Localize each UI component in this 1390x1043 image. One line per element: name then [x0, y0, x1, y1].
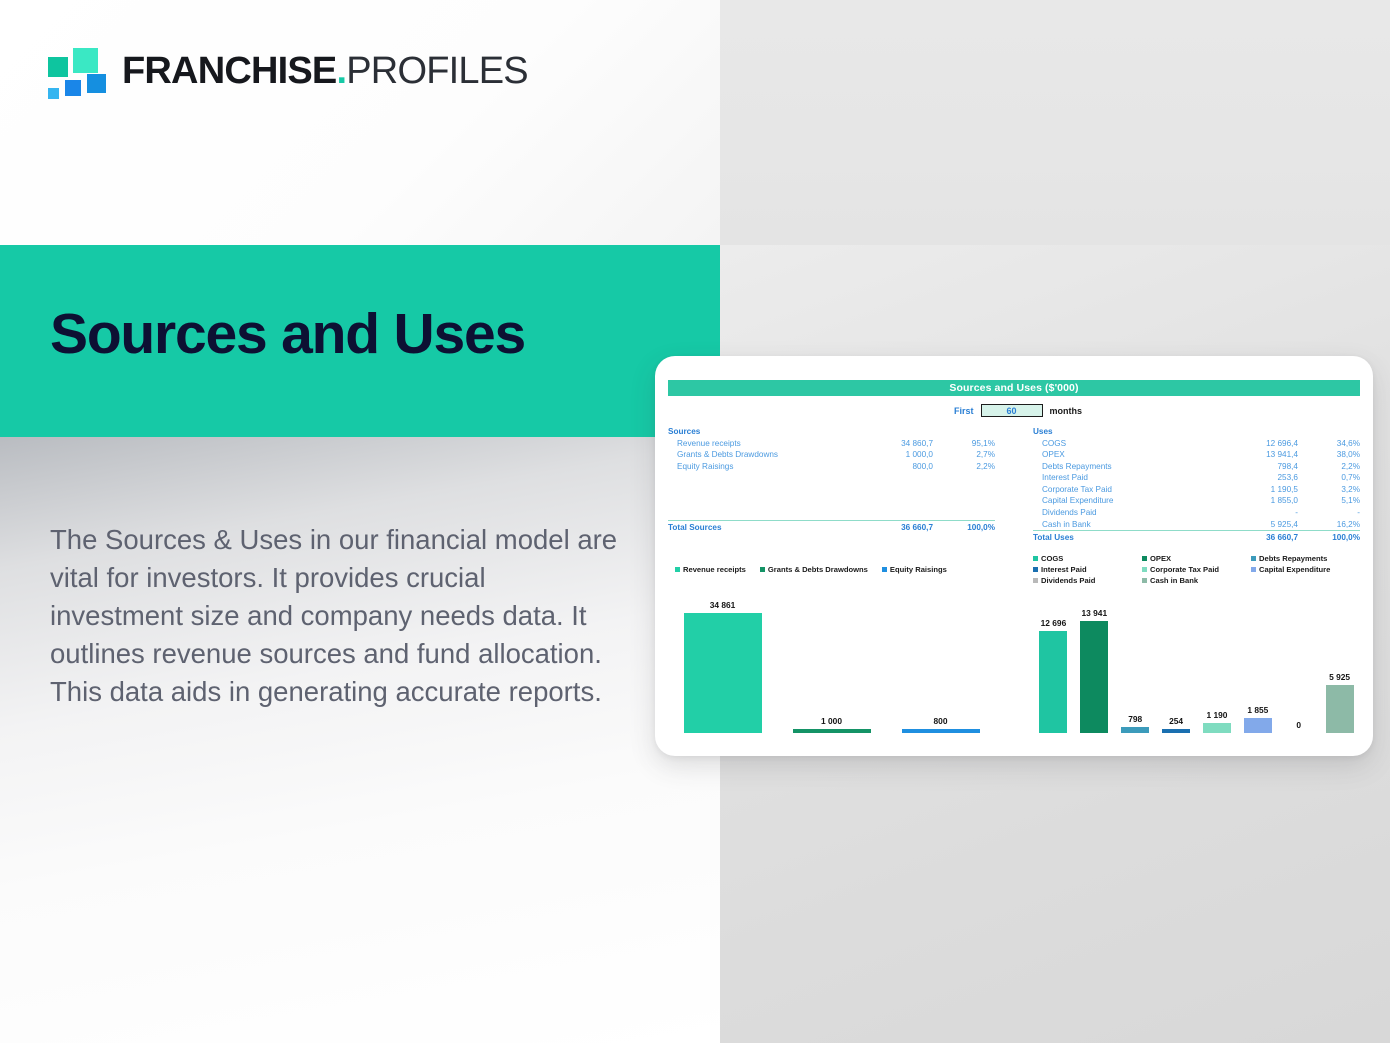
row-amount: 253,6: [1216, 472, 1298, 484]
sources-total-row: Total Sources 36 660,7 100,0%: [668, 520, 995, 534]
uses-bar-chart: 12 69613 9417982541 1901 85505 925: [1033, 591, 1360, 751]
uses-chart-legend: COGSOPEXDebts RepaymentsInterest PaidCor…: [1033, 554, 1360, 585]
brand-name-bold: FRANCHISE: [122, 50, 336, 92]
brand-logo: FRANCHISE.PROFILES: [48, 42, 528, 100]
logo-square-blue-mid: [65, 80, 81, 96]
row-amount: 1 855,0: [1216, 495, 1298, 507]
row-amount: 13 941,4: [1216, 449, 1298, 461]
bar: [1326, 685, 1354, 733]
table-row: OPEX 13 941,4 38,0%: [1033, 449, 1360, 461]
bar-group: 798: [1115, 714, 1156, 733]
row-label: Debts Repayments: [1033, 461, 1216, 473]
bar-value-label: 12 696: [1041, 618, 1067, 628]
logo-square-blue-small: [48, 88, 59, 99]
bar-group: 800: [886, 716, 995, 733]
bar-value-label: 254: [1169, 716, 1183, 726]
row-percent: 3,2%: [1298, 484, 1360, 496]
bar-group: 34 861: [668, 600, 777, 733]
bar: [684, 613, 762, 733]
legend-label: Revenue receipts: [683, 565, 746, 574]
chart-legends: Revenue receiptsGrants & Debts Drawdowns…: [668, 554, 1360, 585]
row-label: Grants & Debts Drawdowns: [668, 449, 851, 461]
bar-group: 1 855: [1237, 705, 1278, 733]
row-label: Revenue receipts: [668, 438, 851, 450]
sheet-title-banner: Sources and Uses ($'000): [668, 380, 1360, 396]
row-label: Corporate Tax Paid: [1033, 484, 1216, 496]
legend-item: Capital Expenditure: [1251, 565, 1360, 574]
logo-square-mint: [73, 48, 98, 73]
row-amount: 1 000,0: [851, 449, 933, 461]
bar-value-label: 34 861: [710, 600, 736, 610]
table-row: Revenue receipts 34 860,7 95,1%: [668, 438, 995, 450]
legend-swatch-icon: [1033, 556, 1038, 561]
background-panel-top-left: [0, 0, 720, 245]
total-percent: 100,0%: [1298, 532, 1360, 544]
legend-label: Corporate Tax Paid: [1150, 565, 1219, 574]
table-row: COGS 12 696,4 34,6%: [1033, 438, 1360, 450]
bar: [1121, 727, 1149, 733]
total-label: Total Sources: [668, 522, 851, 534]
logo-square-teal-dark: [48, 57, 68, 77]
row-label: Interest Paid: [1033, 472, 1216, 484]
bar-value-label: 5 925: [1329, 672, 1350, 682]
page-title: Sources and Uses: [50, 305, 690, 365]
bar-value-label: 1 855: [1247, 705, 1268, 715]
spreadsheet-card: Sources and Uses ($'000) First 60 months…: [655, 356, 1373, 756]
bar: [1162, 729, 1190, 733]
row-percent: 95,1%: [933, 438, 995, 450]
legend-swatch-icon: [1142, 567, 1147, 572]
row-percent: 16,2%: [1298, 519, 1360, 531]
legend-label: Grants & Debts Drawdowns: [768, 565, 868, 574]
total-label: Total Uses: [1033, 532, 1216, 544]
row-amount: 5 925,4: [1216, 519, 1298, 531]
logo-square-blue-large: [87, 74, 106, 93]
bar-group: 13 941: [1074, 608, 1115, 733]
total-amount: 36 660,7: [1216, 532, 1298, 544]
bar: [1203, 723, 1231, 733]
row-percent: 2,2%: [1298, 461, 1360, 473]
table-row: Grants & Debts Drawdowns 1 000,0 2,7%: [668, 449, 995, 461]
row-percent: 2,7%: [933, 449, 995, 461]
legend-item: Dividends Paid: [1033, 576, 1142, 585]
bar-charts: 34 8611 000800 12 69613 9417982541 1901 …: [668, 591, 1360, 751]
legend-item: Revenue receipts: [675, 554, 746, 585]
row-amount: 34 860,7: [851, 438, 933, 450]
row-label: OPEX: [1033, 449, 1216, 461]
brand-name-light: PROFILES: [346, 50, 528, 92]
bar-group: 0: [1278, 720, 1319, 733]
bar: [793, 729, 871, 733]
period-months-input[interactable]: 60: [981, 404, 1043, 417]
legend-swatch-icon: [1251, 556, 1256, 561]
legend-item: Corporate Tax Paid: [1142, 565, 1251, 574]
sources-table-header: Sources: [668, 427, 995, 436]
row-percent: -: [1298, 507, 1360, 519]
row-amount: 798,4: [1216, 461, 1298, 473]
period-suffix-label: months: [1050, 406, 1083, 416]
sources-bar-chart: 34 8611 000800: [668, 591, 995, 751]
row-label: Capital Expenditure: [1033, 495, 1216, 507]
legend-item: Cash in Bank: [1142, 576, 1251, 585]
legend-item: OPEX: [1142, 554, 1251, 563]
legend-item: Equity Raisings: [882, 554, 947, 585]
period-selector-row: First 60 months: [668, 403, 1360, 418]
row-label: Cash in Bank: [1033, 519, 1216, 531]
legend-label: Equity Raisings: [890, 565, 947, 574]
row-amount: 800,0: [851, 461, 933, 473]
table-row: Debts Repayments 798,4 2,2%: [1033, 461, 1360, 473]
row-percent: 34,6%: [1298, 438, 1360, 450]
period-prefix-label: First: [954, 406, 974, 416]
legend-item: Debts Repayments: [1251, 554, 1360, 563]
legend-item: COGS: [1033, 554, 1142, 563]
bar-value-label: 800: [934, 716, 948, 726]
legend-swatch-icon: [1033, 567, 1038, 572]
legend-label: Cash in Bank: [1150, 576, 1198, 585]
background-panel-top-right: [720, 0, 1390, 245]
legend-item: Grants & Debts Drawdowns: [760, 554, 868, 585]
bar: [902, 729, 980, 733]
legend-label: COGS: [1041, 554, 1063, 563]
total-percent: 100,0%: [933, 522, 995, 534]
bar: [1080, 621, 1108, 733]
table-row: Corporate Tax Paid 1 190,5 3,2%: [1033, 484, 1360, 496]
legend-item: Interest Paid: [1033, 565, 1142, 574]
row-percent: 5,1%: [1298, 495, 1360, 507]
row-amount: -: [1216, 507, 1298, 519]
sources-and-uses-tables: Sources Revenue receipts 34 860,7 95,1% …: [668, 427, 1360, 544]
bar-group: 12 696: [1033, 618, 1074, 733]
total-amount: 36 660,7: [851, 522, 933, 534]
table-row: Equity Raisings 800,0 2,2%: [668, 461, 995, 473]
spreadsheet-content: Sources and Uses ($'000) First 60 months…: [668, 380, 1360, 751]
bar-value-label: 1 000: [821, 716, 842, 726]
bar-value-label: 0: [1296, 720, 1301, 730]
legend-label: OPEX: [1150, 554, 1171, 563]
legend-label: Dividends Paid: [1041, 576, 1095, 585]
legend-swatch-icon: [675, 567, 680, 572]
bar-group: 1 000: [777, 716, 886, 733]
page-description: The Sources & Uses in our financial mode…: [50, 521, 620, 711]
table-row: Dividends Paid - -: [1033, 507, 1360, 519]
bar-value-label: 13 941: [1082, 608, 1108, 618]
row-label: Dividends Paid: [1033, 507, 1216, 519]
bar-group: 1 190: [1197, 710, 1238, 733]
bar-group: 5 925: [1319, 672, 1360, 733]
bar-group: 254: [1156, 716, 1197, 733]
legend-swatch-icon: [1033, 578, 1038, 583]
sources-table: Sources Revenue receipts 34 860,7 95,1% …: [668, 427, 995, 544]
legend-label: Capital Expenditure: [1259, 565, 1330, 574]
legend-swatch-icon: [1251, 567, 1256, 572]
uses-total-row: Total Uses 36 660,7 100,0%: [1033, 530, 1360, 544]
row-percent: 0,7%: [1298, 472, 1360, 484]
legend-swatch-icon: [882, 567, 887, 572]
bar-value-label: 798: [1128, 714, 1142, 724]
legend-label: Interest Paid: [1041, 565, 1087, 574]
legend-swatch-icon: [1142, 578, 1147, 583]
legend-label: Debts Repayments: [1259, 554, 1327, 563]
legend-swatch-icon: [760, 567, 765, 572]
brand-wordmark: FRANCHISE.PROFILES: [122, 52, 528, 90]
uses-table: Uses COGS 12 696,4 34,6% OPEX 13 941,4 3…: [1033, 427, 1360, 544]
table-filler: [668, 472, 995, 520]
brand-name-dot: .: [336, 50, 346, 92]
bar-value-label: 1 190: [1206, 710, 1227, 720]
row-amount: 1 190,5: [1216, 484, 1298, 496]
bar: [1244, 718, 1272, 733]
row-percent: 2,2%: [933, 461, 995, 473]
bar: [1039, 631, 1067, 733]
row-percent: 38,0%: [1298, 449, 1360, 461]
table-row: Capital Expenditure 1 855,0 5,1%: [1033, 495, 1360, 507]
row-amount: 12 696,4: [1216, 438, 1298, 450]
row-label: Equity Raisings: [668, 461, 851, 473]
table-row: Cash in Bank 5 925,4 16,2%: [1033, 519, 1360, 531]
logo-squares-icon: [48, 46, 110, 96]
uses-table-header: Uses: [1033, 427, 1360, 436]
legend-swatch-icon: [1142, 556, 1147, 561]
sources-chart-legend: Revenue receiptsGrants & Debts Drawdowns…: [668, 554, 995, 585]
table-row: Interest Paid 253,6 0,7%: [1033, 472, 1360, 484]
row-label: COGS: [1033, 438, 1216, 450]
